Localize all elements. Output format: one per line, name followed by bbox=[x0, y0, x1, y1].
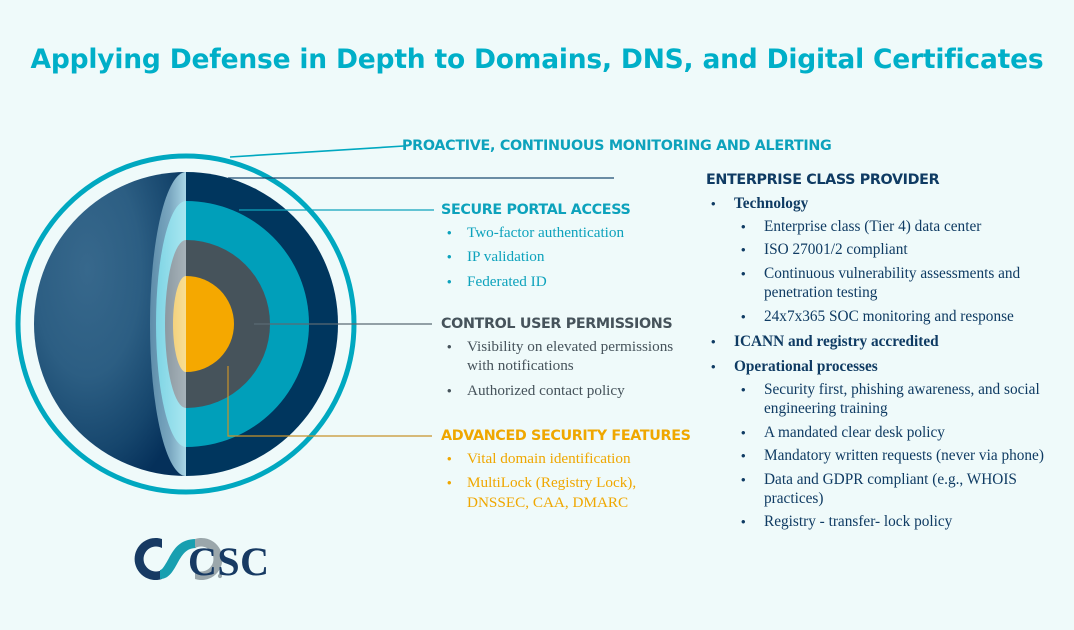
list-item-label: Federated ID bbox=[467, 273, 547, 290]
list-item: • Continuous vulnerability assessments a… bbox=[734, 264, 1046, 303]
list-item-label: Continuous vulnerability assessments and… bbox=[764, 265, 1020, 301]
bullet-icon: • bbox=[741, 380, 746, 399]
list-item: • ISO 27001/2 compliant bbox=[734, 240, 1046, 259]
bullet-icon: • bbox=[447, 449, 452, 468]
list-item: • Authorized contact policy bbox=[441, 381, 691, 400]
callout-secure-portal-access: SECURE PORTAL ACCESS • Two-factor authen… bbox=[441, 202, 630, 291]
leader-line-monitoring bbox=[230, 146, 404, 157]
callout-bullet-list: • Two-factor authentication • IP validat… bbox=[441, 223, 630, 291]
callout-advanced-security-features: ADVANCED SECURITY FEATURES • Vital domai… bbox=[441, 428, 696, 512]
callout-heading: SECURE PORTAL ACCESS bbox=[441, 202, 630, 218]
bullet-icon: • bbox=[447, 272, 452, 291]
list-item-label: ISO 27001/2 compliant bbox=[764, 241, 908, 258]
list-item: • Registry - transfer- lock policy bbox=[734, 512, 1046, 531]
bullet-icon: • bbox=[447, 223, 452, 242]
enterprise-group-label: Technology bbox=[734, 194, 1046, 213]
bullet-icon: • bbox=[711, 332, 716, 351]
bullet-icon: • bbox=[711, 194, 716, 213]
enterprise-group: • Operational processes • Security first… bbox=[706, 357, 1046, 532]
list-item-label: Mandatory written requests (never via ph… bbox=[764, 447, 1044, 464]
callout-bullet-list: • Vital domain identification • MultiLoc… bbox=[441, 449, 696, 512]
bullet-icon: • bbox=[741, 264, 746, 283]
list-item: • Federated ID bbox=[441, 272, 630, 291]
list-item: • A mandated clear desk policy bbox=[734, 423, 1046, 442]
infographic-page: Applying Defense in Depth to Domains, DN… bbox=[0, 0, 1074, 630]
enterprise-subitem-list: • Security first, phishing awareness, an… bbox=[734, 380, 1046, 532]
callout-heading: ADVANCED SECURITY FEATURES bbox=[441, 428, 696, 444]
enterprise-group: • ICANN and registry accredited bbox=[706, 332, 1046, 351]
list-item-label: A mandated clear desk policy bbox=[764, 424, 945, 441]
bullet-icon: • bbox=[447, 337, 452, 356]
list-item: • 24x7x365 SOC monitoring and response bbox=[734, 307, 1046, 326]
bullet-icon: • bbox=[741, 307, 746, 326]
callout-heading: CONTROL USER PERMISSIONS bbox=[441, 316, 691, 332]
list-item-label: Data and GDPR compliant (e.g., WHOIS pra… bbox=[764, 471, 1017, 507]
bullet-icon: • bbox=[741, 240, 746, 259]
list-item-label: Security first, phishing awareness, and … bbox=[764, 381, 1040, 417]
list-item-label: 24x7x365 SOC monitoring and response bbox=[764, 308, 1014, 325]
enterprise-group-label: Operational processes bbox=[734, 357, 1046, 376]
enterprise-group: • Technology • Enterprise class (Tier 4)… bbox=[706, 194, 1046, 326]
list-item-label: MultiLock (Registry Lock), DNSSEC, CAA, … bbox=[467, 474, 636, 510]
callout-control-user-permissions: CONTROL USER PERMISSIONS • Visibility on… bbox=[441, 316, 691, 400]
bullet-icon: • bbox=[741, 217, 746, 236]
list-item: • Two-factor authentication bbox=[441, 223, 630, 242]
bullet-icon: • bbox=[741, 470, 746, 489]
list-item-label: IP validation bbox=[467, 248, 544, 265]
logo-navy-arc-icon bbox=[135, 538, 162, 580]
list-item: • Vital domain identification bbox=[441, 449, 696, 468]
list-item-label: Registry - transfer- lock policy bbox=[764, 513, 952, 530]
list-item-label: Authorized contact policy bbox=[467, 382, 625, 399]
callout-enterprise-class-provider: ENTERPRISE CLASS PROVIDER • Technology •… bbox=[706, 172, 1046, 532]
list-item: • IP validation bbox=[441, 247, 630, 266]
callout-bullet-list: • Visibility on elevated permissions wit… bbox=[441, 337, 691, 400]
callout-heading: ENTERPRISE CLASS PROVIDER bbox=[706, 172, 1046, 188]
enterprise-subitem-list: • Enterprise class (Tier 4) data center … bbox=[734, 217, 1046, 326]
list-item: • Data and GDPR compliant (e.g., WHOIS p… bbox=[734, 470, 1046, 509]
list-item-label: Vital domain identification bbox=[467, 450, 631, 467]
enterprise-group-label: ICANN and registry accredited bbox=[734, 332, 1046, 351]
enterprise-group-list: • Technology • Enterprise class (Tier 4)… bbox=[706, 194, 1046, 532]
bullet-icon: • bbox=[447, 473, 452, 492]
list-item: • Mandatory written requests (never via … bbox=[734, 446, 1046, 465]
logo-wordmark: CSC bbox=[188, 538, 270, 585]
bullet-icon: • bbox=[447, 247, 452, 266]
page-title: Applying Defense in Depth to Domains, DN… bbox=[0, 44, 1074, 75]
list-item-label: Two-factor authentication bbox=[467, 224, 624, 241]
bullet-icon: • bbox=[447, 381, 452, 400]
list-item-label: Visibility on elevated permissions with … bbox=[467, 338, 673, 374]
bullet-icon: • bbox=[711, 357, 716, 376]
callout-heading-monitoring: PROACTIVE, CONTINUOUS MONITORING AND ALE… bbox=[402, 138, 831, 154]
list-item: • Security first, phishing awareness, an… bbox=[734, 380, 1046, 419]
list-item: • MultiLock (Registry Lock), DNSSEC, CAA… bbox=[441, 473, 696, 512]
bullet-icon: • bbox=[741, 512, 746, 531]
list-item: • Visibility on elevated permissions wit… bbox=[441, 337, 691, 376]
bullet-icon: • bbox=[741, 423, 746, 442]
list-item-label: Enterprise class (Tier 4) data center bbox=[764, 218, 981, 235]
bullet-icon: • bbox=[741, 446, 746, 465]
list-item: • Enterprise class (Tier 4) data center bbox=[734, 217, 1046, 236]
